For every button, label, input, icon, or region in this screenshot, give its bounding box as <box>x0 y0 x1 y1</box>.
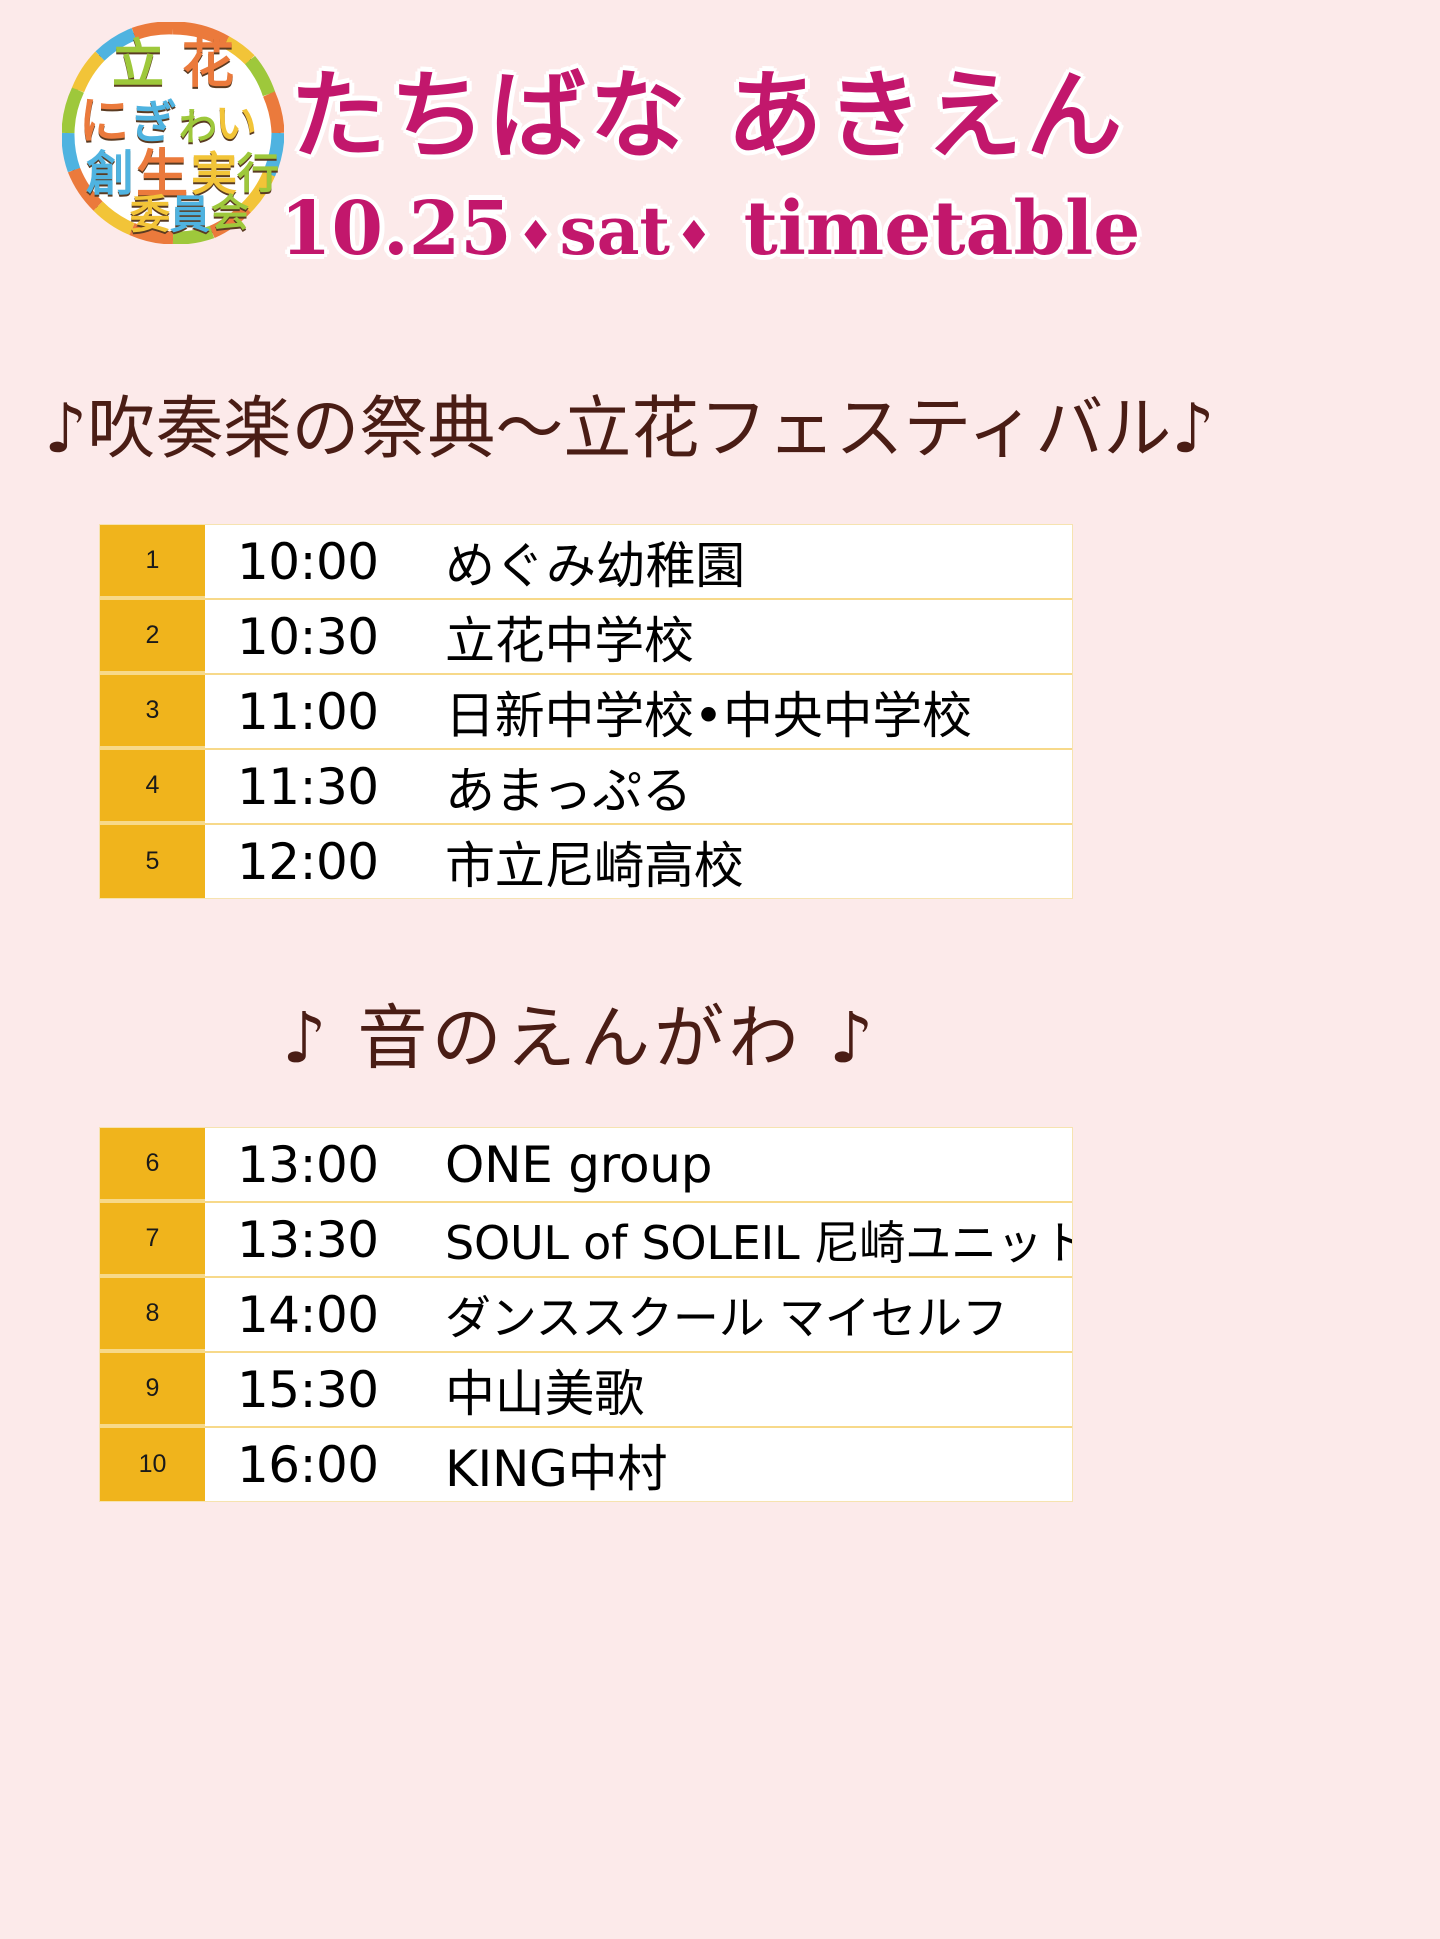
timetable-brass-band: 1 10:00 めぐみ幼稚園 2 10:30 立花中学校 3 11:00 日新中… <box>100 525 1072 898</box>
row-time: 14:00 <box>237 1286 405 1344</box>
row-time: 13:30 <box>237 1211 405 1269</box>
row-time: 13:00 <box>237 1136 405 1194</box>
row-content: 14:00 ダンススクール マイセルフ <box>205 1278 1072 1351</box>
row-content: 11:00 日新中学校•中央中学校 <box>205 675 1072 748</box>
row-act: めぐみ幼稚園 <box>445 526 745 598</box>
svg-text:い: い <box>215 99 257 148</box>
svg-text:創: 創 <box>86 146 134 202</box>
table-row[interactable]: 6 13:00 ONE group <box>100 1128 1072 1203</box>
table-row[interactable]: 10 16:00 KING中村 <box>100 1428 1072 1501</box>
row-content: 13:30 SOUL of SOLEIL 尼崎ユニット <box>205 1203 1072 1276</box>
table-row[interactable]: 9 15:30 中山美歌 <box>100 1353 1072 1428</box>
row-number: 4 <box>100 750 205 823</box>
row-act: 中山美歌 <box>445 1354 644 1426</box>
section-heading-oto-no-engawa: ♪ 音のえんがわ ♪ <box>0 1000 1160 1077</box>
row-content: 12:00 市立尼崎高校 <box>205 825 1072 898</box>
table-row[interactable]: 5 12:00 市立尼崎高校 <box>100 825 1072 898</box>
svg-text:に: に <box>79 92 129 150</box>
row-act: 日新中学校•中央中学校 <box>445 676 972 748</box>
row-time: 11:00 <box>237 683 405 741</box>
svg-text:委: 委 <box>130 192 170 238</box>
svg-text:会: 会 <box>211 191 249 235</box>
svg-text:員: 員 <box>170 192 210 238</box>
row-act: ONE group <box>445 1136 712 1194</box>
row-time: 16:00 <box>237 1436 405 1494</box>
row-act: KING中村 <box>445 1429 667 1501</box>
diamond-separator-icon: ♦ <box>512 212 560 259</box>
event-date: 10.25 <box>280 186 512 272</box>
table-row[interactable]: 3 11:00 日新中学校•中央中学校 <box>100 675 1072 750</box>
diamond-separator-icon-2: ♦ <box>670 212 718 259</box>
row-time: 12:00 <box>237 833 405 891</box>
table-row[interactable]: 2 10:30 立花中学校 <box>100 600 1072 675</box>
row-number: 9 <box>100 1353 205 1426</box>
row-number: 2 <box>100 600 205 673</box>
row-time: 11:30 <box>237 758 405 816</box>
page-title: たちばな あきえん <box>290 60 1390 173</box>
row-number: 7 <box>100 1203 205 1276</box>
title-block: たちばな あきえん 10.25♦sat♦ timetable <box>290 60 1390 269</box>
table-row[interactable]: 4 11:30 あまっぷる <box>100 750 1072 825</box>
row-content: 10:00 めぐみ幼稚園 <box>205 525 1072 598</box>
row-number: 10 <box>100 1428 205 1501</box>
svg-text:立: 立 <box>112 35 164 95</box>
row-content: 13:00 ONE group <box>205 1128 1072 1201</box>
timetable-oto-no-engawa: 6 13:00 ONE group 7 13:30 SOUL of SOLEIL… <box>100 1128 1072 1501</box>
row-content: 16:00 KING中村 <box>205 1428 1072 1501</box>
svg-text:わ: わ <box>179 105 217 149</box>
row-act: 市立尼崎高校 <box>445 826 744 898</box>
row-time: 10:00 <box>237 533 405 591</box>
svg-text:花: 花 <box>182 35 234 95</box>
row-act: SOUL of SOLEIL 尼崎ユニット <box>445 1207 1072 1273</box>
table-row[interactable]: 1 10:00 めぐみ幼稚園 <box>100 525 1072 600</box>
row-content: 10:30 立花中学校 <box>205 600 1072 673</box>
row-content: 11:30 あまっぷる <box>205 750 1072 823</box>
row-number: 5 <box>100 825 205 898</box>
timetable-label: timetable <box>744 186 1141 272</box>
row-number: 3 <box>100 675 205 748</box>
row-time: 10:30 <box>237 608 405 666</box>
row-content: 15:30 中山美歌 <box>205 1353 1072 1426</box>
table-row[interactable]: 8 14:00 ダンススクール マイセルフ <box>100 1278 1072 1353</box>
row-act: あまっぷる <box>445 751 692 823</box>
row-time: 15:30 <box>237 1361 405 1419</box>
event-date-subtitle: 10.25♦sat♦ timetable <box>280 191 1390 269</box>
row-act: 立花中学校 <box>445 601 694 673</box>
row-number: 6 <box>100 1128 205 1201</box>
row-number: 8 <box>100 1278 205 1351</box>
event-weekday: sat <box>560 192 670 270</box>
section-heading-brass-band: ♪吹奏楽の祭典～立花フェスティバル♪ <box>44 393 1215 468</box>
row-act: ダンススクール マイセルフ <box>445 1282 1008 1348</box>
row-number: 1 <box>100 525 205 598</box>
poster-header: 立 立 花 花 に に ぎ ぎ わ わ い い 創 創 生 生 実 <box>0 0 1440 350</box>
organizer-logo: 立 立 花 花 に に ぎ ぎ わ わ い い 創 創 生 生 実 <box>62 22 284 244</box>
svg-text:ぎ: ぎ <box>131 95 177 149</box>
table-row[interactable]: 7 13:30 SOUL of SOLEIL 尼崎ユニット <box>100 1203 1072 1278</box>
